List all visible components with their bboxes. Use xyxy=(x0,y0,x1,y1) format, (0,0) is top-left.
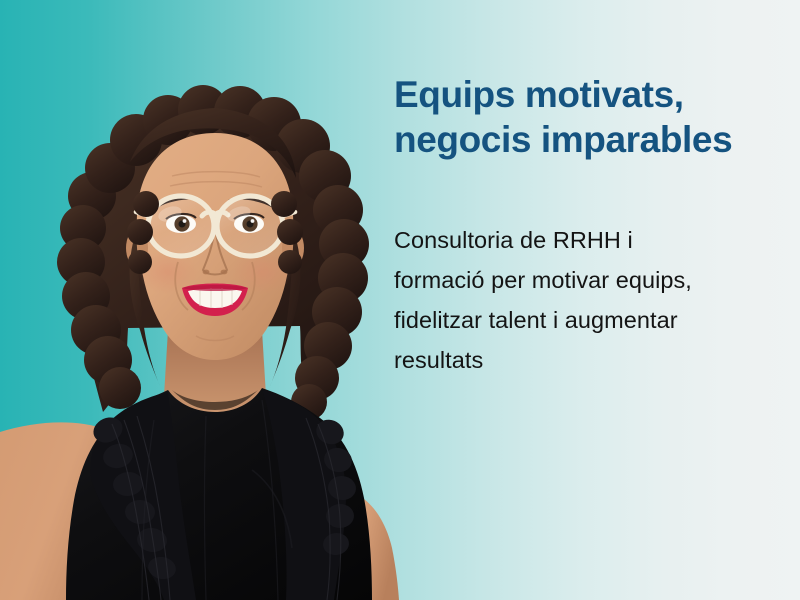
portrait-photo xyxy=(0,0,430,600)
black-top xyxy=(66,388,372,600)
hero-subcopy: Consultoria de RRHH i formació per motiv… xyxy=(394,162,784,380)
hero-text-block: Equips motivats, negocis imparables Cons… xyxy=(394,72,784,380)
hero-banner: Equips motivats, negocis imparables Cons… xyxy=(0,0,800,600)
page-title: Equips motivats, negocis imparables xyxy=(394,72,784,162)
